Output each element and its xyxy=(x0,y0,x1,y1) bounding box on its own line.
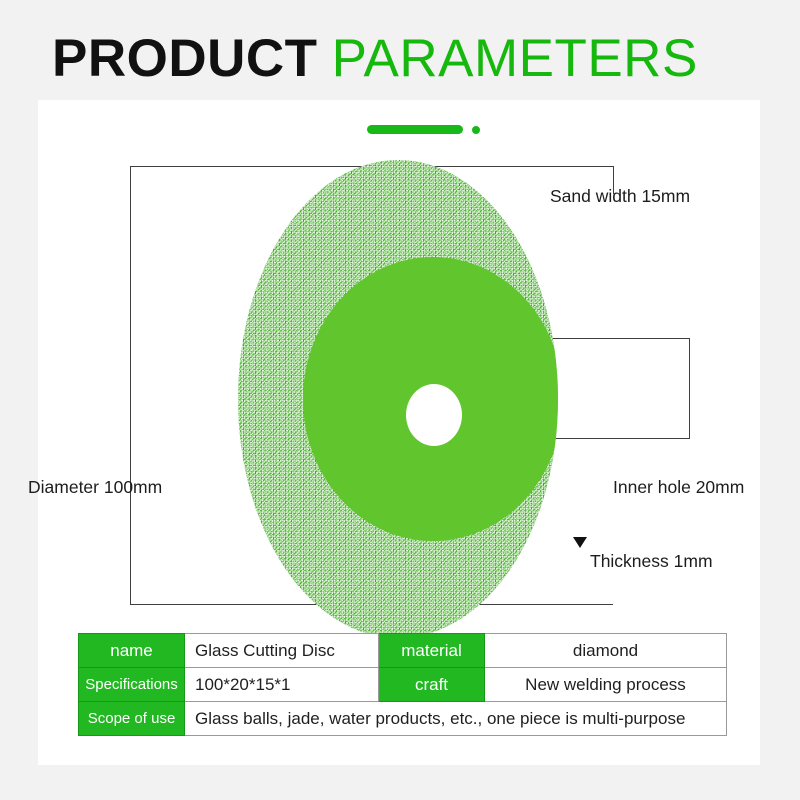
disc-center-hole xyxy=(406,384,462,446)
annotation-sand-width: Sand width 15mm xyxy=(550,186,690,207)
thickness-arrow-icon xyxy=(573,537,587,548)
page-title-accent: PARAMETERS xyxy=(332,29,698,88)
annotation-diameter: Diameter 100mm xyxy=(28,477,162,498)
page-title: PRODUCTPARAMETERS xyxy=(52,28,698,90)
annotation-inner-hole: Inner hole 20mm xyxy=(613,477,744,498)
spec-value-scope-of-use: Glass balls, jade, water products, etc.,… xyxy=(185,702,727,736)
spec-table: name Glass Cutting Disc material diamond… xyxy=(78,633,727,736)
page-title-primary: PRODUCT xyxy=(52,29,318,88)
annotation-thickness: Thickness 1mm xyxy=(590,551,713,572)
divider-dot-icon xyxy=(472,126,480,134)
spec-value-craft: New welding process xyxy=(485,668,727,702)
product-parameters-card: Sand width 15mm Inner hole 20mm Diameter… xyxy=(38,100,760,765)
disc-outer-rim xyxy=(238,160,558,638)
spec-key-name: name xyxy=(79,634,185,668)
spec-value-specifications: 100*20*15*1 xyxy=(185,668,379,702)
inner-hole-bracket-right xyxy=(689,338,690,439)
spec-key-craft: craft xyxy=(379,668,485,702)
table-row: Specifications 100*20*15*1 craft New wel… xyxy=(79,668,727,702)
spec-key-specifications: Specifications xyxy=(79,668,185,702)
table-row: Scope of use Glass balls, jade, water pr… xyxy=(79,702,727,736)
spec-value-name: Glass Cutting Disc xyxy=(185,634,379,668)
page-header: PRODUCTPARAMETERS xyxy=(0,0,800,100)
spec-value-material: diamond xyxy=(485,634,727,668)
diameter-bracket-left xyxy=(130,166,131,605)
spec-key-scope-of-use: Scope of use xyxy=(79,702,185,736)
disc-illustration xyxy=(203,160,593,638)
table-row: name Glass Cutting Disc material diamond xyxy=(79,634,727,668)
divider-bar-icon xyxy=(367,125,463,134)
spec-key-material: material xyxy=(379,634,485,668)
divider xyxy=(367,124,489,136)
